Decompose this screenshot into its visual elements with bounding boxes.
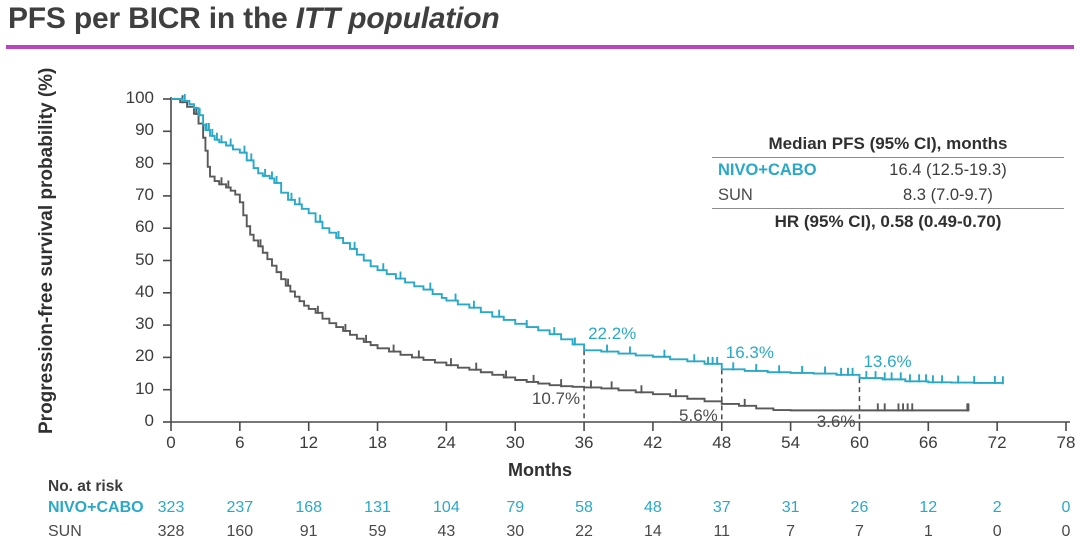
risk-value: 2 — [973, 499, 1021, 517]
risk-value: 7 — [767, 523, 815, 541]
risk-value: 14 — [629, 523, 677, 541]
y-tick-label: 40 — [114, 282, 154, 302]
title-underline-rule — [6, 45, 1074, 49]
risk-value: 7 — [835, 523, 883, 541]
legend-row-nivo-cabo: NIVO+CABO 16.4 (12.5-19.3) — [712, 158, 1064, 183]
risk-value: 48 — [629, 499, 677, 517]
y-tick-label: 100 — [114, 88, 154, 108]
y-tick-label: 30 — [114, 314, 154, 334]
risk-value: 30 — [491, 523, 539, 541]
y-tick-label: 70 — [114, 185, 154, 205]
risk-row-label-nivo-cabo: NIVO+CABO — [48, 499, 144, 517]
risk-value: 0 — [973, 523, 1021, 541]
x-tick-label: 30 — [492, 433, 538, 453]
risk-value: 0 — [1042, 499, 1080, 517]
legend-hazard-ratio: HR (95% CI), 0.58 (0.49-0.70) — [712, 209, 1064, 232]
number-at-risk-table: No. at risk NIVO+CABO SUN 32323716813110… — [0, 478, 1080, 556]
x-tick-label: 60 — [836, 433, 882, 453]
risk-row-label-sun: SUN — [48, 523, 82, 541]
x-tick-label: 42 — [630, 433, 676, 453]
risk-value: 59 — [354, 523, 402, 541]
risk-value: 1 — [904, 523, 952, 541]
risk-value: 37 — [698, 499, 746, 517]
y-tick-label: 60 — [114, 217, 154, 237]
curve-annotation-nivo-60mo: 13.6% — [863, 352, 911, 372]
risk-value: 12 — [904, 499, 952, 517]
risk-value: 91 — [285, 523, 333, 541]
median-pfs-legend-table: Median PFS (95% CI), months NIVO+CABO 16… — [712, 134, 1064, 232]
risk-value: 58 — [560, 499, 608, 517]
x-tick-label: 36 — [561, 433, 607, 453]
title-block: PFS per BICR in the ITT population — [0, 0, 1080, 52]
risk-value: 328 — [147, 523, 195, 541]
x-tick-label: 48 — [699, 433, 745, 453]
x-tick-label: 24 — [423, 433, 469, 453]
x-tick-label: 78 — [1043, 433, 1080, 453]
curve-annotation-sun-48mo: 5.6% — [666, 406, 718, 426]
page-title-prefix: PFS per BICR in the — [8, 2, 296, 35]
y-tick-label: 90 — [114, 120, 154, 140]
x-tick-label: 66 — [905, 433, 951, 453]
legend-header: Median PFS (95% CI), months — [712, 134, 1064, 157]
y-axis-ticks — [163, 99, 171, 422]
x-tick-label: 72 — [974, 433, 1020, 453]
risk-value: 11 — [698, 523, 746, 541]
risk-value: 168 — [285, 499, 333, 517]
y-tick-label: 10 — [114, 379, 154, 399]
risk-value: 26 — [835, 499, 883, 517]
risk-value: 43 — [422, 523, 470, 541]
risk-value: 104 — [422, 499, 470, 517]
y-tick-label: 50 — [114, 250, 154, 270]
risk-value: 79 — [491, 499, 539, 517]
risk-table-title: No. at risk — [48, 478, 123, 496]
x-tick-label: 0 — [148, 433, 194, 453]
legend-value-sun: 8.3 (7.0-9.7) — [850, 186, 1064, 205]
x-tick-label: 12 — [286, 433, 332, 453]
x-tick-label: 54 — [768, 433, 814, 453]
page-title-italic: ITT population — [296, 2, 500, 35]
y-tick-label: 80 — [114, 153, 154, 173]
risk-value: 237 — [216, 499, 264, 517]
risk-value: 160 — [216, 523, 264, 541]
legend-arm-sun: SUN — [718, 186, 850, 205]
risk-value: 323 — [147, 499, 195, 517]
chart-area: Progression-free survival probability (%… — [0, 52, 1080, 472]
legend-value-nivo-cabo: 16.4 (12.5-19.3) — [850, 161, 1064, 180]
risk-value: 131 — [354, 499, 402, 517]
risk-value: 22 — [560, 523, 608, 541]
legend-row-sun: SUN 8.3 (7.0-9.7) — [712, 183, 1064, 208]
x-tick-label: 18 — [355, 433, 401, 453]
legend-arm-nivo-cabo: NIVO+CABO — [718, 161, 850, 180]
curve-annotation-nivo-48mo: 16.3% — [726, 343, 774, 363]
risk-value: 31 — [767, 499, 815, 517]
page-title: PFS per BICR in the ITT population — [8, 2, 500, 36]
x-axis-ticks — [171, 422, 1066, 431]
risk-value: 0 — [1042, 523, 1080, 541]
curve-annotation-sun-36mo: 10.7% — [528, 389, 580, 409]
y-tick-label: 0 — [114, 411, 154, 431]
x-tick-label: 6 — [217, 433, 263, 453]
curve-annotation-sun-60mo: 3.6% — [803, 412, 855, 432]
curve-annotation-nivo-36mo: 22.2% — [588, 324, 636, 344]
y-tick-label: 20 — [114, 346, 154, 366]
